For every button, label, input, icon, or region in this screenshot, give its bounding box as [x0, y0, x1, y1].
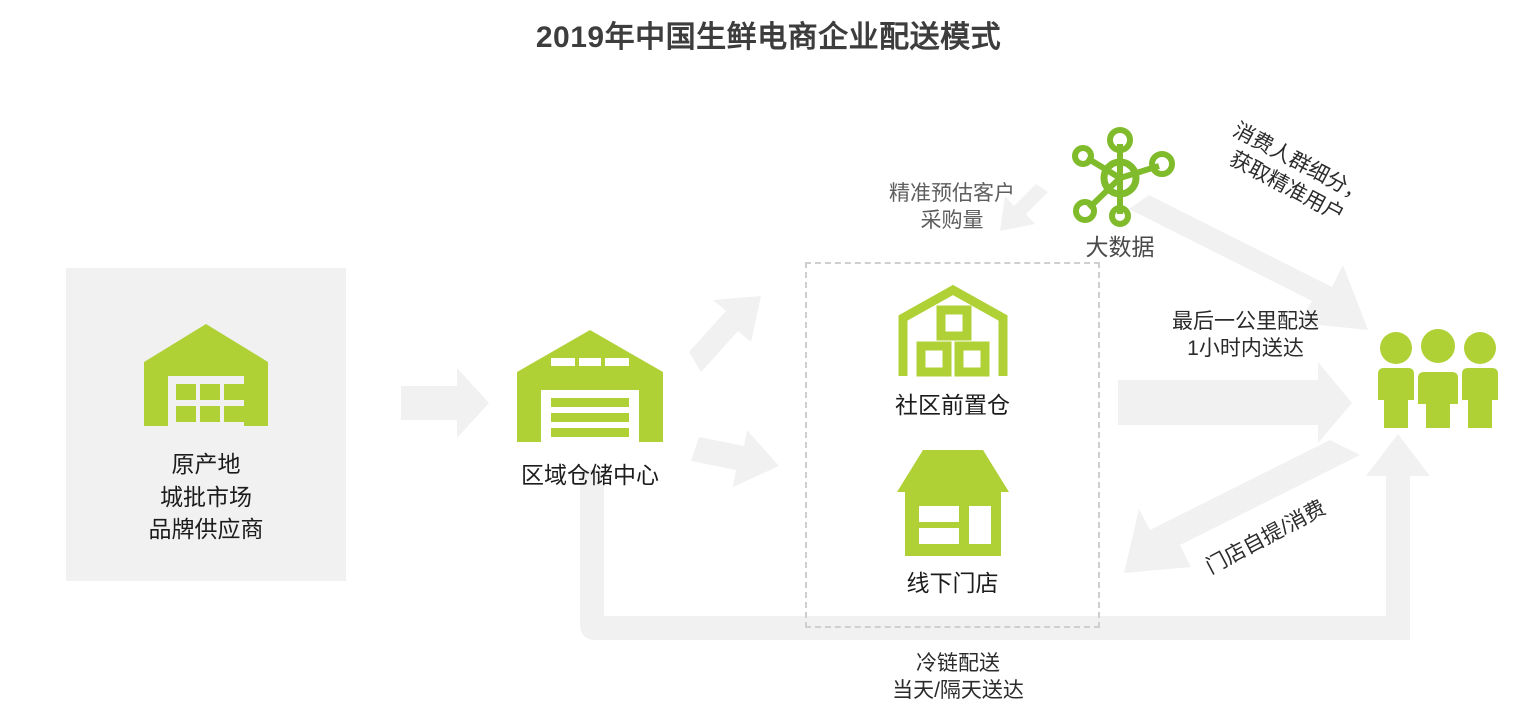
diagram-canvas: 2019年中国生鲜电商企业配送模式	[0, 0, 1537, 726]
node-consumers	[1358, 328, 1518, 432]
people-group-icon	[1358, 328, 1518, 432]
node-offline-store: 线下门店	[855, 448, 1050, 599]
node-regional-warehouse: 区域仓储中心	[500, 328, 680, 491]
source-panel: 原产地 城批市场 品牌供应商	[66, 268, 346, 581]
arrow-warehouse-to-forward-warehouse	[689, 296, 761, 372]
arrow-warehouse-to-offline-store	[691, 430, 779, 487]
forward-warehouse-label: 社区前置仓	[855, 390, 1050, 421]
source-label: 原产地 城批市场 品牌供应商	[66, 448, 346, 546]
storefront-icon	[855, 448, 1050, 558]
warehouse-icon	[500, 328, 680, 444]
regional-warehouse-label: 区域仓储中心	[500, 460, 680, 491]
offline-store-label: 线下门店	[855, 568, 1050, 599]
annotation-last-mile: 最后一公里配送 1小时内送达	[1138, 308, 1353, 363]
arrow-forward-warehouse-to-consumers	[1118, 362, 1352, 443]
warehouse-barn-icon	[66, 320, 346, 430]
arrow-source-to-warehouse	[401, 368, 489, 438]
annotation-cold-chain: 冷链配送 当天/隔天送达	[838, 650, 1078, 705]
node-forward-warehouse: 社区前置仓	[855, 284, 1050, 421]
annotation-forecast: 精准预估客户 采购量	[862, 180, 1042, 235]
big-data-label: 大数据	[1020, 232, 1220, 263]
storage-bins-icon	[855, 284, 1050, 380]
